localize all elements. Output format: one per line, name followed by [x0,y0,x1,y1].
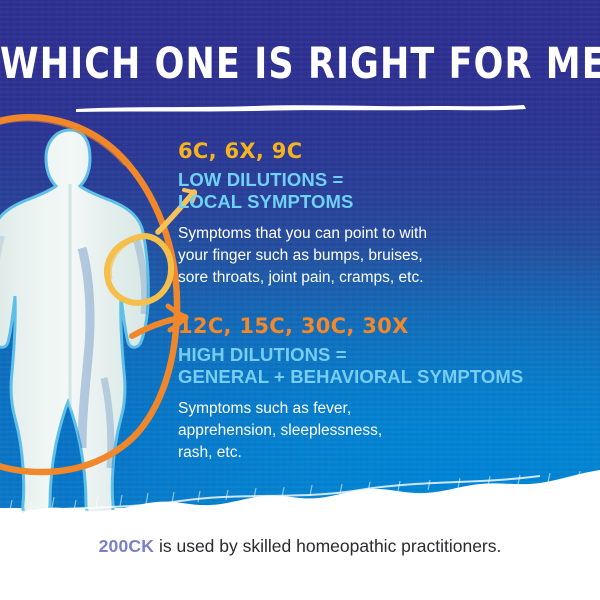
high-body-line1: Symptoms such as fever, [178,398,590,420]
high-dilutions-block: 12C, 15C, 30C, 30X HIGH DILUTIONS = GENE… [178,315,590,464]
high-body-copy: Symptoms such as fever, apprehension, sl… [178,398,590,464]
low-body-line1: Symptoms that you can point to with [178,223,578,245]
high-subheading: HIGH DILUTIONS = GENERAL + BEHAVIORAL SY… [178,344,590,387]
low-body-copy: Symptoms that you can point to with your… [178,223,578,289]
page-title: WHICH ONE IS RIGHT FOR ME? [0,44,600,87]
low-subheading-line2: LOCAL SYMPTOMS [178,191,578,212]
high-subheading-line2: GENERAL + BEHAVIORAL SYMPTOMS [178,366,590,387]
high-body-line3: rash, etc. [178,442,590,464]
low-dilutions-block: 6C, 6X, 9C LOW DILUTIONS = LOCAL SYMPTOM… [178,140,578,289]
title-block: WHICH ONE IS RIGHT FOR ME? [0,44,600,106]
high-potency-label: 12C, 15C, 30C, 30X [178,315,590,337]
footer-accent-label: 200CK [99,536,154,556]
high-body-line2: apprehension, sleeplessness, [178,420,590,442]
brush-underline-icon [74,99,526,106]
low-potency-label: 6C, 6X, 9C [178,140,578,162]
low-body-line2: your finger such as bumps, bruises, [178,245,578,267]
low-body-line3: sore throats, joint pain, cramps, etc. [178,267,578,289]
footer-caption-text: is used by skilled homeopathic practitio… [154,536,501,556]
high-subheading-line1: HIGH DILUTIONS = [178,344,590,365]
low-subheading-line1: LOW DILUTIONS = [178,169,578,190]
low-subheading: LOW DILUTIONS = LOCAL SYMPTOMS [178,169,578,212]
human-body-silhouette-icon [0,128,196,530]
infographic-poster: WHICH ONE IS RIGHT FOR ME? 6C, 6X, 9C LO… [0,0,600,600]
footer-caption: 200CK is used by skilled homeopathic pra… [0,536,600,557]
